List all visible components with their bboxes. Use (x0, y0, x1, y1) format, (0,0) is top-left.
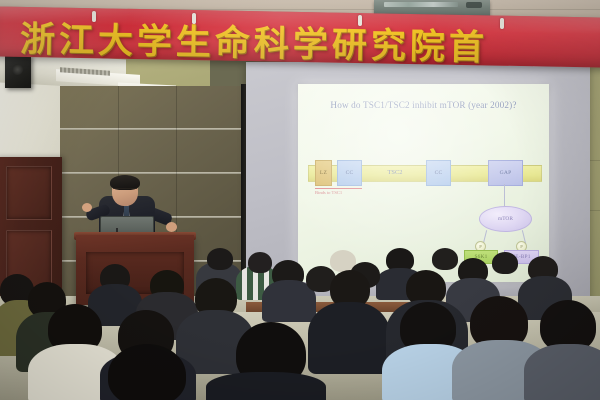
wall-speaker-icon (5, 55, 31, 88)
connector-gap-to-mtor (504, 184, 505, 206)
audience-member (308, 302, 390, 374)
glasses-icon (113, 188, 137, 194)
door-panel-upper (6, 166, 52, 220)
slide-title: How do TSC1/TSC2 inhibit mTOR (year 2002… (298, 100, 549, 110)
slide-annotation: Binds to TSC1 (315, 190, 377, 195)
annotation-underline (315, 188, 362, 189)
panel-strip (60, 172, 246, 174)
domain-box-lz: LZ (315, 160, 332, 186)
audience-member (524, 344, 600, 400)
speaker-hand-right (166, 222, 177, 232)
speaker-hand-left (82, 203, 92, 212)
domain-box-gap: GAP (488, 160, 523, 186)
lecture-hall-photo: How do TSC1/TSC2 inhibit mTOR (year 2002… (0, 0, 600, 400)
audience-member-head (248, 252, 272, 273)
audience (0, 248, 600, 400)
audience-member-head (492, 252, 518, 274)
protein-name-label: TSC2 (370, 169, 420, 176)
banner-tie (92, 11, 96, 22)
mtor-node: mTOR (479, 206, 532, 232)
audience-member (206, 372, 326, 400)
banner-tie (192, 13, 196, 24)
banner-tie (358, 15, 362, 26)
panel-strip (60, 128, 246, 130)
audience-member-head (207, 248, 233, 270)
banner-tie (500, 18, 504, 29)
audience-member-head (108, 344, 186, 400)
domain-box-cc-1: CC (337, 160, 362, 186)
domain-box-cc-2: CC (426, 160, 451, 186)
audience-member-head (432, 248, 458, 270)
